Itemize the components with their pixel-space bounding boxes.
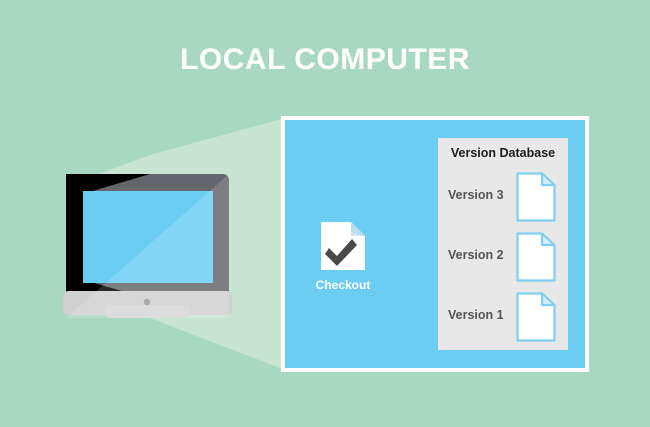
checkout-file[interactable]: Checkout bbox=[311, 222, 375, 298]
version-row[interactable]: Version 2 bbox=[438, 230, 568, 284]
checkout-document-icon bbox=[311, 222, 375, 278]
version-label: Version 2 bbox=[448, 248, 504, 262]
page-title: LOCAL COMPUTER bbox=[0, 44, 650, 76]
version-row[interactable]: Version 3 bbox=[438, 170, 568, 224]
version-document-icon bbox=[516, 172, 556, 222]
version-label: Version 1 bbox=[448, 308, 504, 322]
version-database-panel: Version Database Version 3 Version 2 Ver… bbox=[438, 138, 568, 350]
version-database-title: Version Database bbox=[438, 146, 568, 160]
checkout-label: Checkout bbox=[311, 278, 375, 292]
illustration-canvas: LOCAL COMPUTER Checkout Version Database… bbox=[0, 0, 650, 427]
version-document-icon bbox=[516, 232, 556, 282]
version-document-icon bbox=[516, 292, 556, 342]
version-label: Version 3 bbox=[448, 188, 504, 202]
version-row[interactable]: Version 1 bbox=[438, 290, 568, 344]
